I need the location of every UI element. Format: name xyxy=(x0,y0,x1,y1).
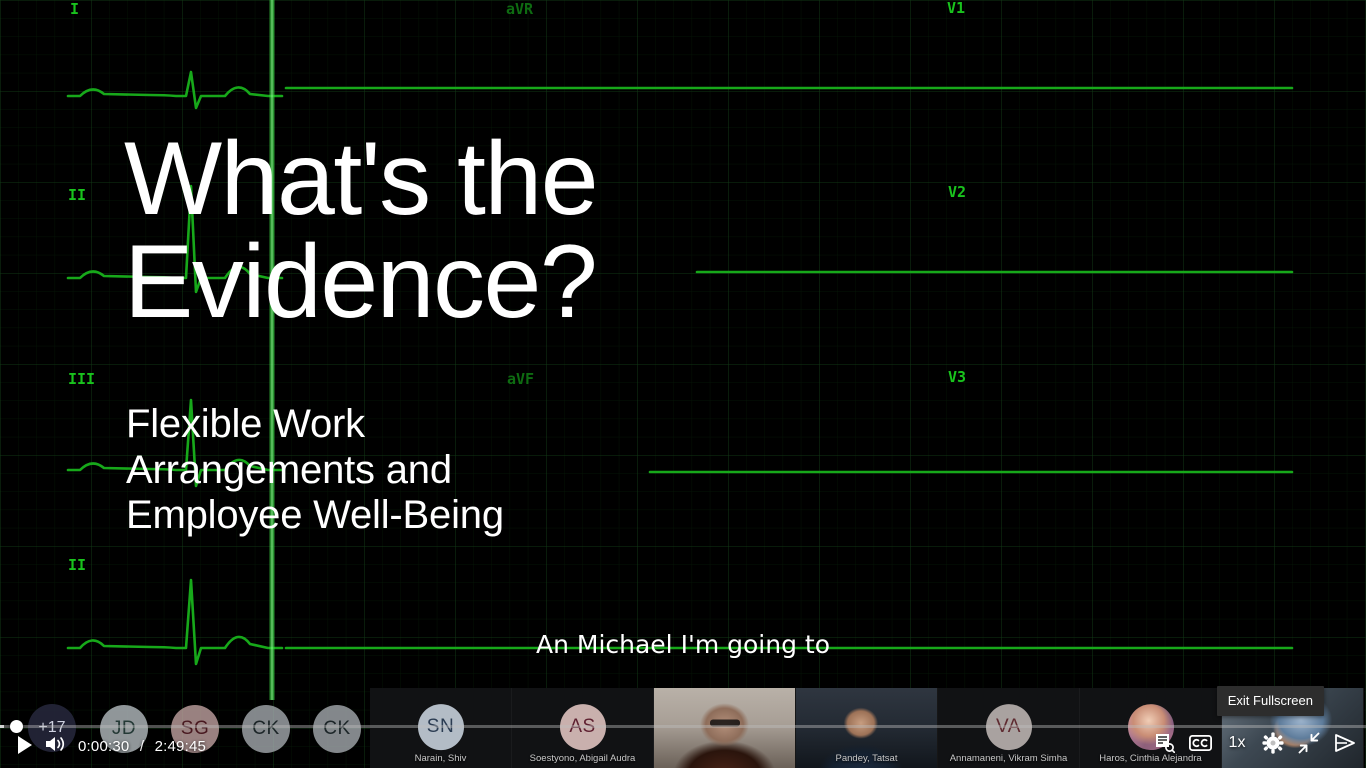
exit-fullscreen-button[interactable] xyxy=(1298,730,1320,756)
participant-avatar[interactable]: CK xyxy=(242,705,290,753)
ecg-lead-label-III: III xyxy=(68,370,95,388)
playback-speed-label: 1x xyxy=(1229,734,1246,752)
total-time: 2:49:45 xyxy=(155,738,206,755)
current-time: 0:00:30 xyxy=(78,738,129,755)
participant-tile[interactable]: ASSoestyono, Abigail Audra xyxy=(512,688,654,768)
exit-fullscreen-tooltip: Exit Fullscreen xyxy=(1217,686,1324,716)
settings-button[interactable] xyxy=(1262,730,1284,756)
participant-name: Pandey, Tatsat xyxy=(796,753,937,764)
participant-tile[interactable]: SNNarain, Shiv xyxy=(370,688,512,768)
ecg-lead-label-aVR: aVR xyxy=(506,0,534,18)
settings-gear-icon xyxy=(1262,732,1284,754)
exit-fullscreen-icon xyxy=(1298,732,1320,754)
shared-screen-slide: I aVR V1 II V2 III aVF V3 II What's the … xyxy=(0,0,1366,768)
participant-name: Annamaneni, Vikram Simha xyxy=(938,753,1079,764)
play-button[interactable] xyxy=(14,734,36,756)
time-display: 0:00:30 / 2:49:45 xyxy=(78,738,206,755)
volume-button[interactable] xyxy=(44,734,70,754)
participant-tile[interactable] xyxy=(654,688,796,768)
share-button[interactable] xyxy=(1334,730,1356,756)
ecg-lead-label-V3: V3 xyxy=(948,368,966,386)
participant-video xyxy=(654,688,795,768)
volume-icon xyxy=(44,734,70,754)
ecg-lead-label-V2: V2 xyxy=(948,183,966,201)
progress-bar-handle[interactable] xyxy=(10,720,23,733)
play-icon xyxy=(18,736,32,754)
zoom-recording-player: I aVR V1 II V2 III aVF V3 II What's the … xyxy=(0,0,1366,768)
closed-captions-icon xyxy=(1189,735,1212,751)
participant-name: Soestyono, Abigail Audra xyxy=(512,753,653,764)
right-control-group: 1x xyxy=(1153,728,1356,758)
ecg-background-graphic: I aVR V1 II V2 III aVF V3 II xyxy=(0,0,1366,768)
ecg-lead-label-II: II xyxy=(68,186,86,204)
slide-subtitle: Flexible Work Arrangements and Employee … xyxy=(126,402,646,539)
closed-captions-button[interactable] xyxy=(1189,730,1212,756)
ecg-lead-label-II2: II xyxy=(68,556,86,574)
participant-avatar[interactable]: CK xyxy=(313,705,361,753)
transcript-icon xyxy=(1154,733,1175,753)
ecg-lead-label-I: I xyxy=(70,0,79,18)
share-icon xyxy=(1334,733,1356,753)
ecg-lead-label-aVF: aVF xyxy=(507,370,534,388)
transcript-button[interactable] xyxy=(1153,730,1175,756)
slide-title: What's the Evidence? xyxy=(124,128,824,334)
progress-bar-played xyxy=(0,725,4,728)
time-separator: / xyxy=(140,738,144,755)
playback-speed-button[interactable]: 1x xyxy=(1226,730,1248,756)
participant-tile[interactable]: VAAnnamaneni, Vikram Simha xyxy=(938,688,1080,768)
participant-tile[interactable]: Pandey, Tatsat xyxy=(796,688,938,768)
participant-name: Narain, Shiv xyxy=(370,753,511,764)
ecg-lead-label-V1: V1 xyxy=(947,0,965,17)
